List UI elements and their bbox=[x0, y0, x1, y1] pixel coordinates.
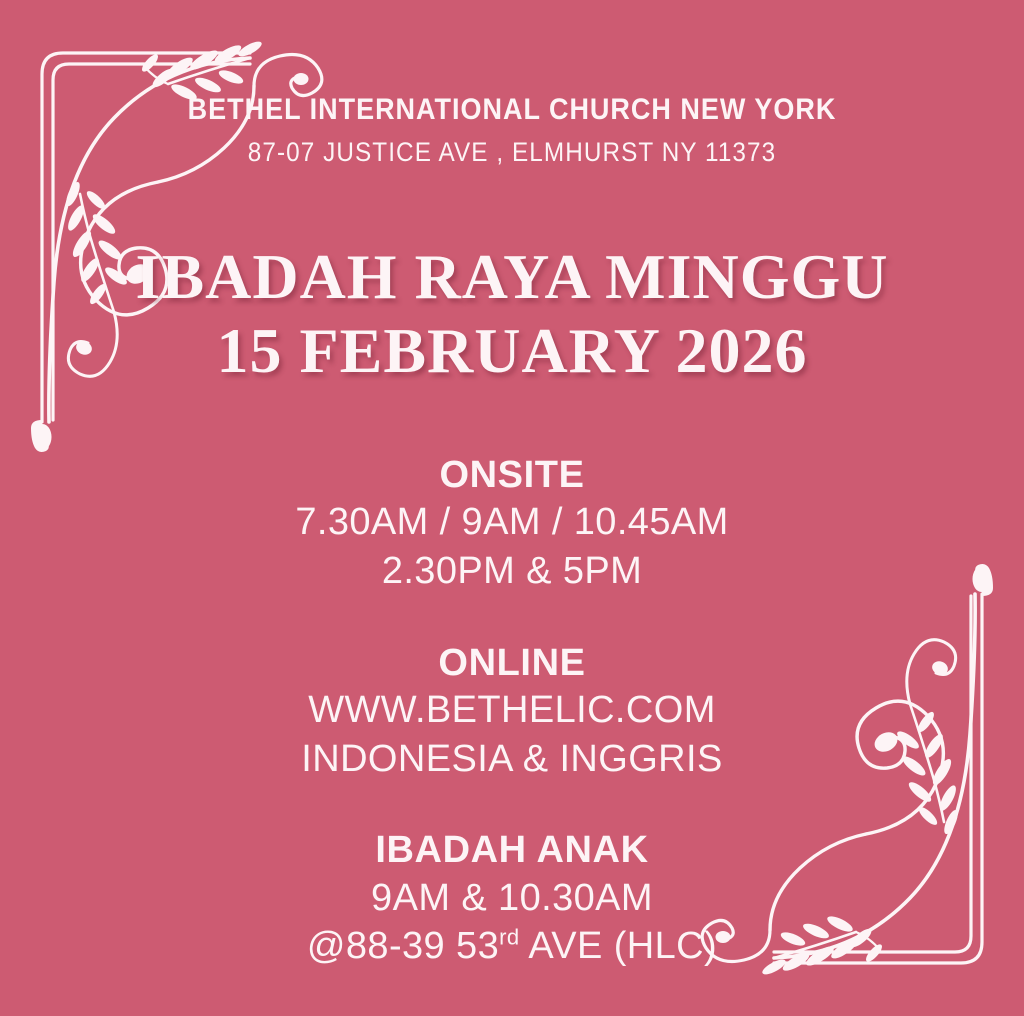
organization-name: BETHEL INTERNATIONAL CHURCH NEW YORK bbox=[51, 92, 973, 127]
header-block: BETHEL INTERNATIONAL CHURCH NEW YORK 87-… bbox=[0, 92, 1024, 169]
section-online-heading: ONLINE bbox=[0, 640, 1024, 686]
section-onsite: ONSITE 7.30AM / 9AM / 10.45AM 2.30PM & 5… bbox=[0, 452, 1024, 596]
section-children-address-ordinal: rd bbox=[499, 925, 519, 950]
section-children-address: @88-39 53rd AVE (HLC) bbox=[0, 922, 1024, 971]
section-online-website[interactable]: WWW.BETHELIC.COM bbox=[0, 686, 1024, 735]
section-online-languages: INDONESIA & INGGRIS bbox=[0, 735, 1024, 784]
section-online: ONLINE WWW.BETHELIC.COM INDONESIA & INGG… bbox=[0, 640, 1024, 784]
section-children-heading: IBADAH ANAK bbox=[0, 827, 1024, 873]
section-children: IBADAH ANAK 9AM & 10.30AM @88-39 53rd AV… bbox=[0, 827, 1024, 971]
section-onsite-heading: ONSITE bbox=[0, 452, 1024, 498]
title-line-2: 15 FEBRUARY 2026 bbox=[0, 314, 1024, 388]
page-title: IBADAH RAYA MINGGU 15 FEBRUARY 2026 bbox=[0, 240, 1024, 388]
section-children-address-prefix: @88-39 53 bbox=[307, 925, 499, 967]
service-sections: ONSITE 7.30AM / 9AM / 10.45AM 2.30PM & 5… bbox=[0, 452, 1024, 971]
poster-canvas: BETHEL INTERNATIONAL CHURCH NEW YORK 87-… bbox=[0, 0, 1024, 1016]
title-line-1: IBADAH RAYA MINGGU bbox=[0, 240, 1024, 314]
section-children-address-suffix: AVE (HLC) bbox=[520, 925, 718, 967]
section-children-times: 9AM & 10.30AM bbox=[0, 874, 1024, 923]
section-onsite-times-line-1: 7.30AM / 9AM / 10.45AM bbox=[0, 498, 1024, 547]
section-onsite-times-line-2: 2.30PM & 5PM bbox=[0, 547, 1024, 596]
organization-address: 87-07 JUSTICE AVE , ELMHURST NY 11373 bbox=[51, 136, 973, 168]
